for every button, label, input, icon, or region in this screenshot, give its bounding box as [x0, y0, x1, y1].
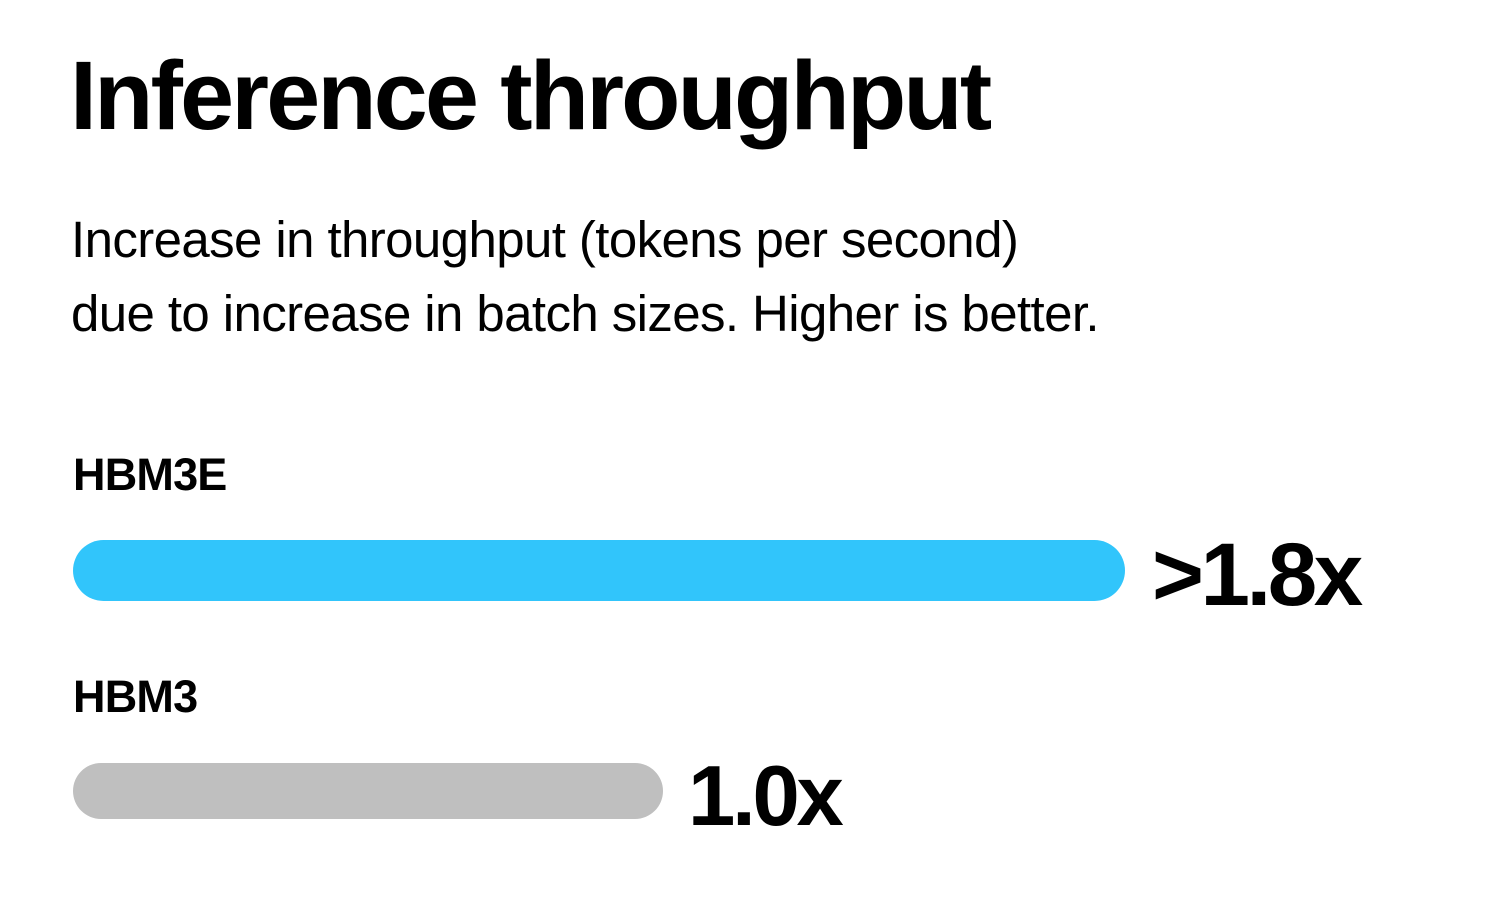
bar-label-hbm3e: HBM3E — [73, 452, 227, 497]
bar-value-hbm3: 1.0x — [688, 754, 841, 839]
bar-chart: HBM3E >1.8x HBM3 1.0x — [0, 0, 1500, 900]
bar-fill-hbm3e — [73, 540, 1125, 601]
bar-fill-hbm3 — [73, 763, 663, 819]
chart-canvas: Inference throughput Increase in through… — [0, 0, 1500, 900]
bar-value-hbm3e: >1.8x — [1152, 530, 1360, 619]
bar-label-hbm3: HBM3 — [73, 674, 197, 719]
